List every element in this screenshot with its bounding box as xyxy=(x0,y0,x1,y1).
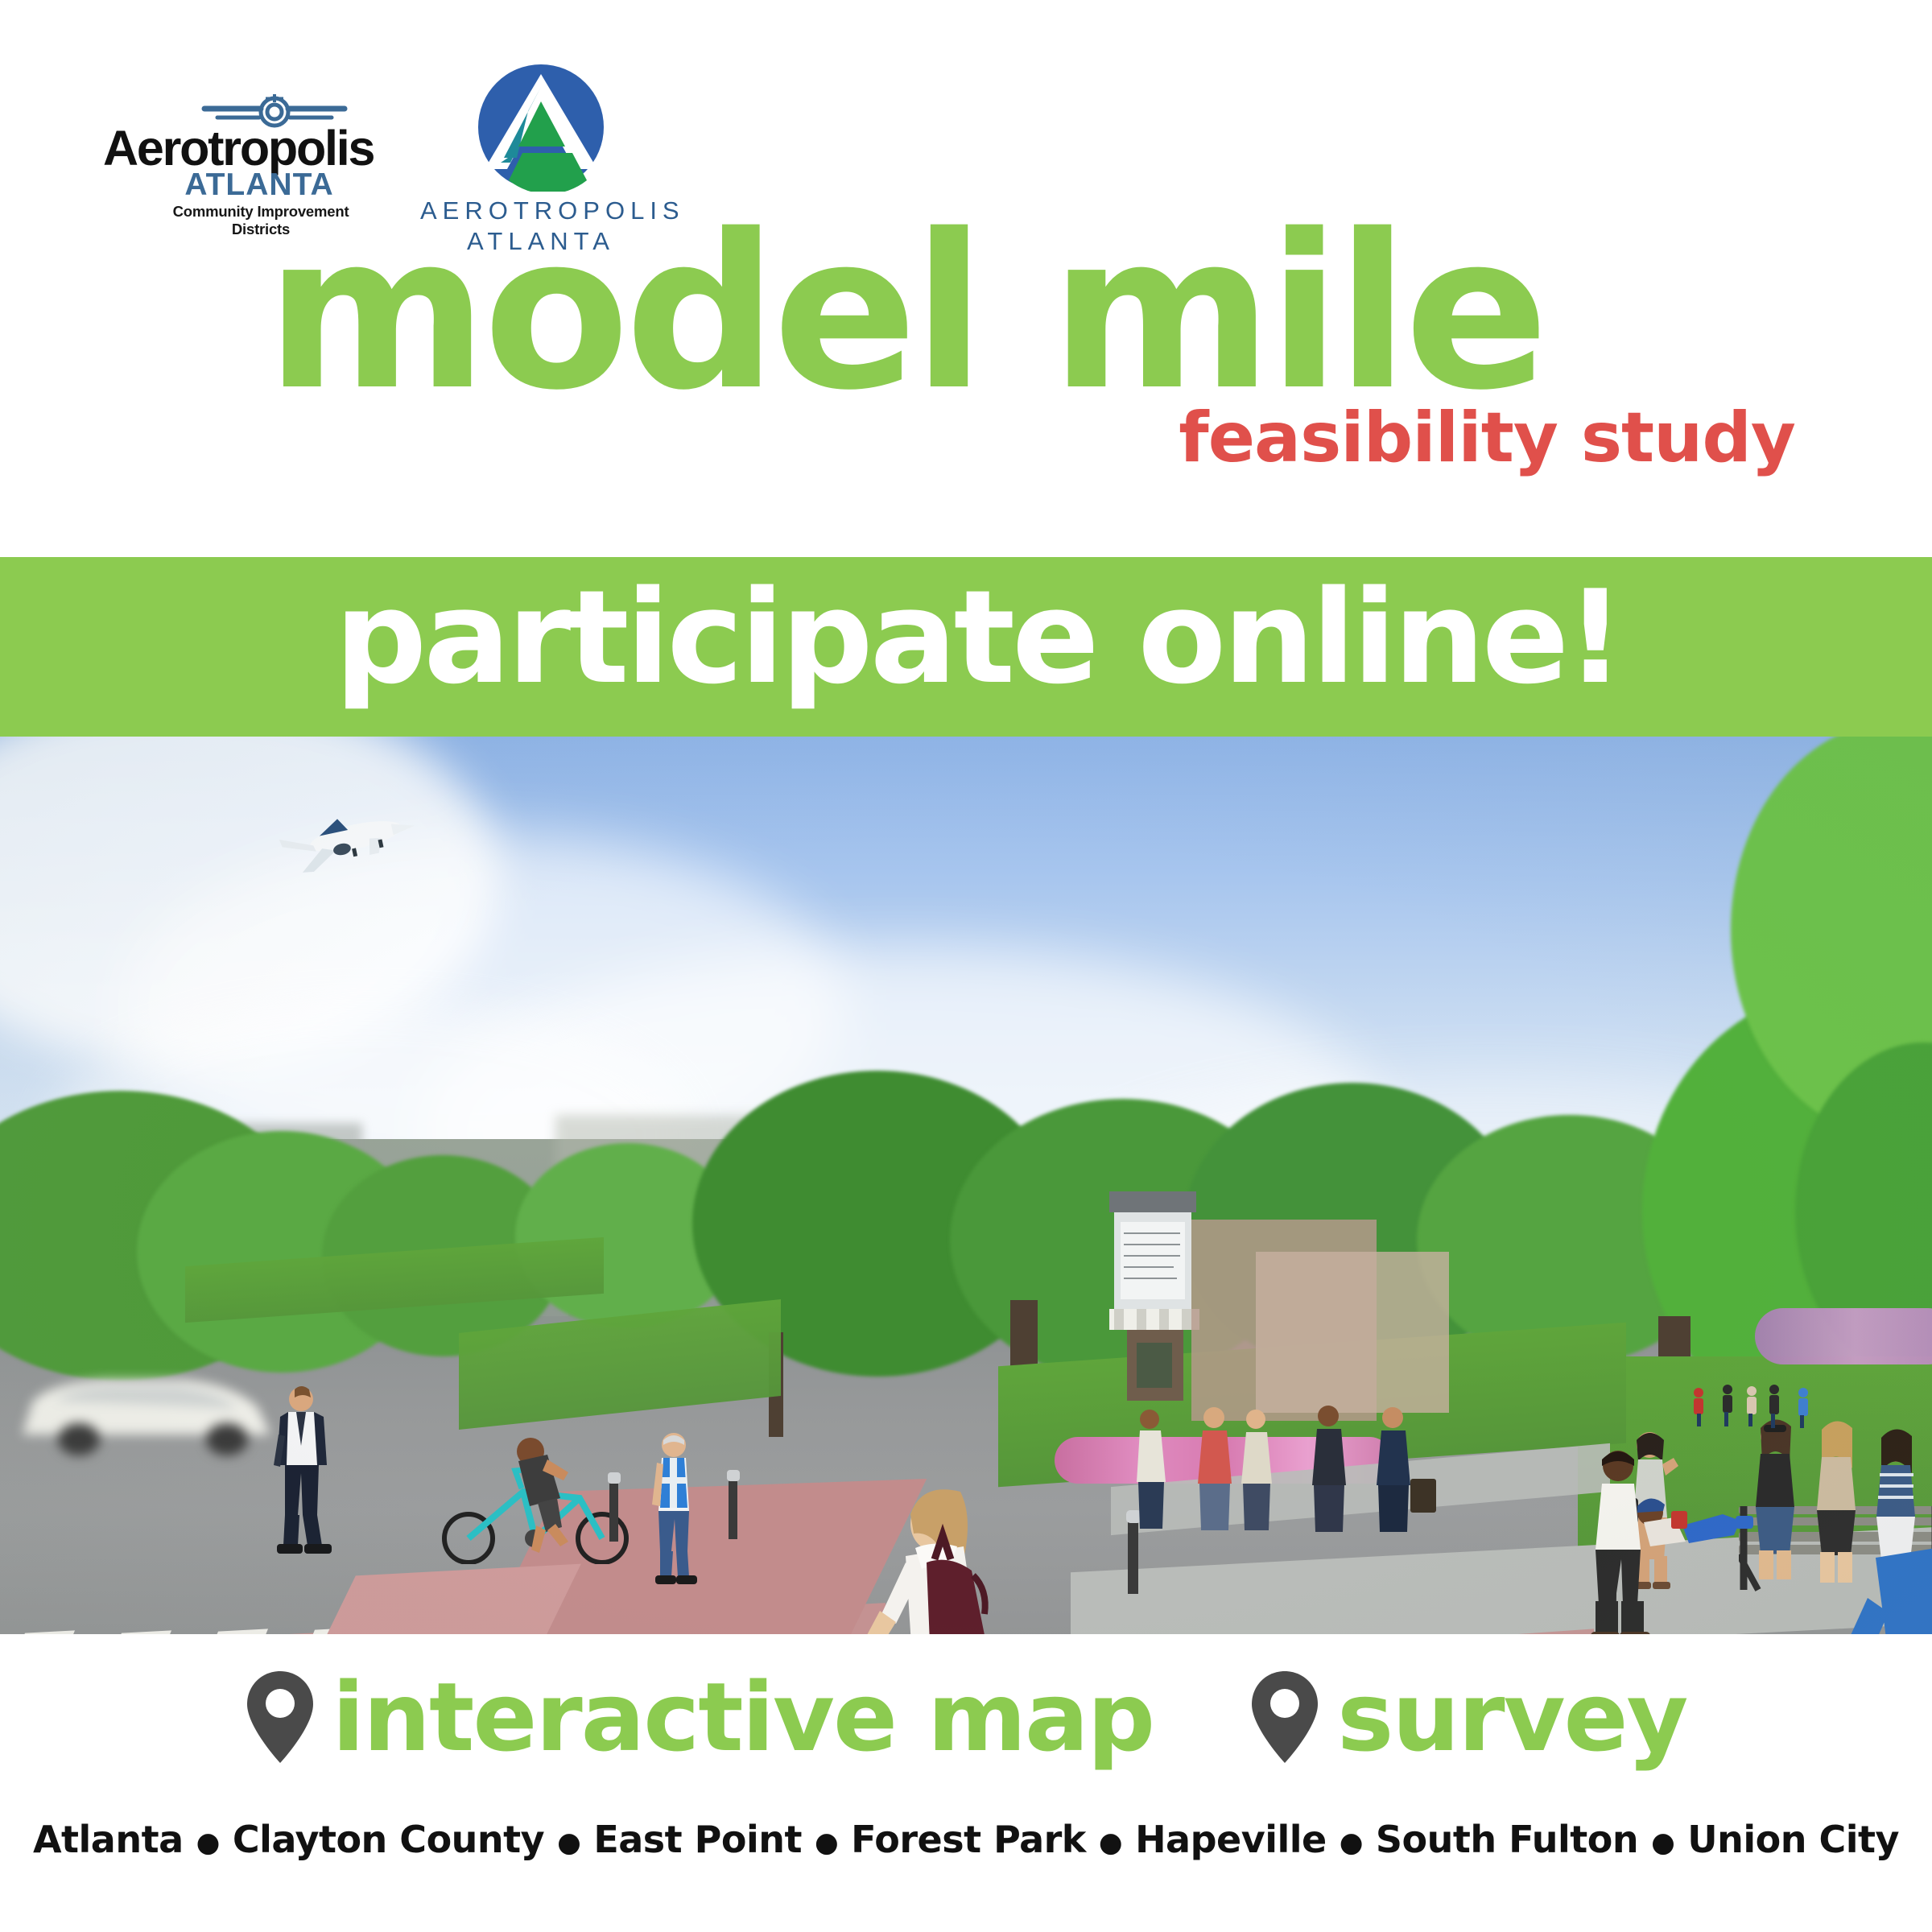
city-name: East Point xyxy=(593,1818,802,1861)
city-name: Hapeville xyxy=(1135,1818,1327,1861)
city-name: Forest Park xyxy=(851,1818,1086,1861)
cid-wordmark: Aerotropolis xyxy=(103,128,369,168)
survey-label: survey xyxy=(1337,1670,1686,1765)
interactive-map-label: interactive map xyxy=(332,1670,1154,1765)
cta-row: interactive map survey xyxy=(0,1670,1932,1765)
photo-vignette xyxy=(0,737,1932,1634)
propeller-plane-icon xyxy=(198,93,369,131)
city-separator: ● xyxy=(802,1827,851,1859)
map-pin-icon xyxy=(1250,1670,1319,1765)
city-separator: ● xyxy=(184,1827,233,1859)
poster-root: Aerotropolis ATLANTA Community Improveme… xyxy=(0,0,1932,1932)
streetscape-rendering xyxy=(0,737,1932,1634)
city-name: Clayton County xyxy=(233,1818,544,1861)
city-separator: ● xyxy=(1638,1827,1687,1859)
city-separator: ● xyxy=(1086,1827,1135,1859)
map-pin-icon xyxy=(246,1670,315,1765)
title-block: model mile feasibility study xyxy=(0,216,1932,478)
city-separator: ● xyxy=(544,1827,593,1859)
participate-banner-text: participate online! xyxy=(0,560,1932,715)
city-separator: ● xyxy=(1327,1827,1376,1859)
survey-link[interactable]: survey xyxy=(1250,1670,1686,1765)
aerotropolis-a-circle-icon xyxy=(477,63,605,192)
city-name: Union City xyxy=(1687,1818,1899,1861)
participate-banner: participate online! xyxy=(0,557,1932,737)
city-name: South Fulton xyxy=(1376,1818,1638,1861)
footer: interactive map survey Atlanta●Clayton C… xyxy=(0,1634,1932,1932)
participating-cities: Atlanta●Clayton County●East Point●Forest… xyxy=(0,1818,1932,1861)
page-title: model mile xyxy=(0,216,1932,412)
city-name: Atlanta xyxy=(33,1818,184,1861)
interactive-map-link[interactable]: interactive map xyxy=(246,1670,1154,1765)
